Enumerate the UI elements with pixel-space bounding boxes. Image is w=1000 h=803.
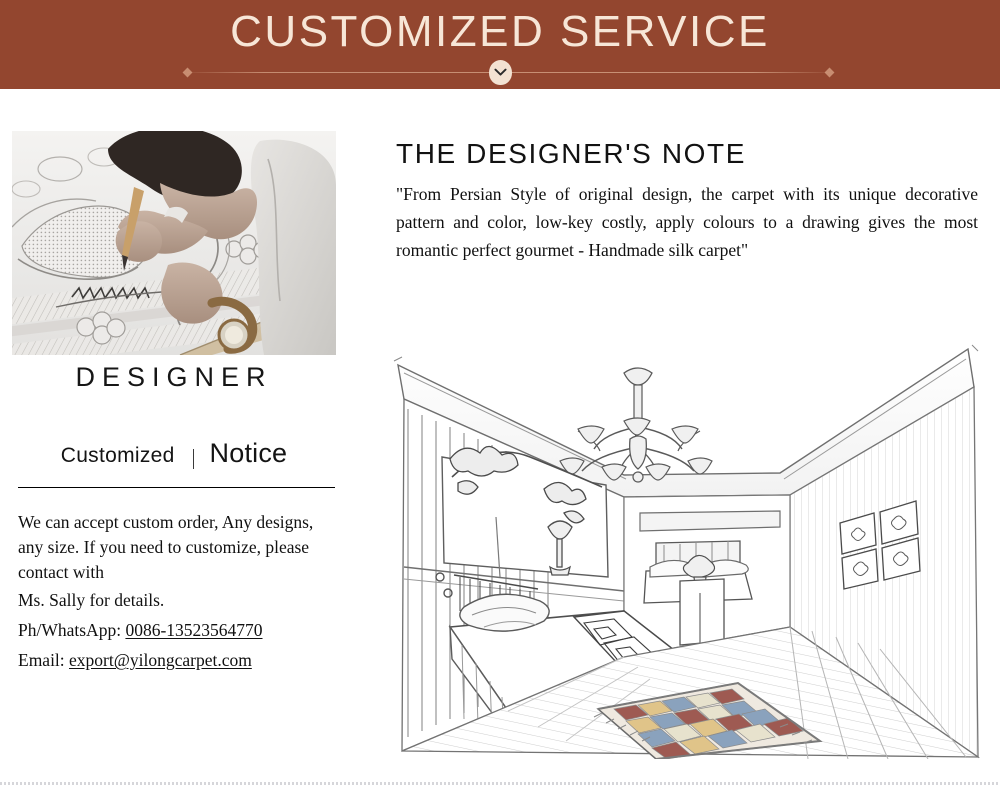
header-divider-dot-left (183, 68, 193, 78)
chevron-down-badge[interactable] (489, 60, 512, 85)
page-title: CUSTOMIZED SERVICE (0, 6, 1000, 58)
bottom-dotted-divider (0, 782, 1000, 785)
header-divider-dot-right (825, 68, 835, 78)
designer-heading: DESIGNER (12, 362, 336, 393)
contact-block: We can accept custom order, Any designs,… (18, 510, 338, 675)
phone-line: Ph/WhatsApp: 0086-13523564770 (18, 615, 338, 645)
phone-label: Ph/WhatsApp: (18, 620, 121, 640)
designer-photo (12, 131, 336, 355)
room-sketch-image (388, 327, 980, 759)
vertical-divider (193, 449, 194, 469)
designers-note-body: "From Persian Style of original design, … (396, 180, 978, 264)
phone-value[interactable]: 0086-13523564770 (125, 620, 262, 640)
email-line: Email: export@yilongcarpet.com (18, 645, 338, 675)
section-divider-rule (18, 487, 335, 488)
customized-notice-row: Customized Notice (12, 438, 336, 469)
email-value[interactable]: export@yilongcarpet.com (69, 650, 252, 670)
page-header-banner: CUSTOMIZED SERVICE (0, 0, 1000, 89)
notice-label: Notice (210, 438, 288, 468)
chevron-down-icon (494, 68, 507, 77)
designers-note-heading: THE DESIGNER'S NOTE (396, 138, 746, 170)
email-label: Email: (18, 650, 65, 670)
custom-order-text: We can accept custom order, Any designs,… (18, 510, 338, 585)
contact-person-text: Ms. Sally for details. (18, 585, 338, 615)
customized-label: Customized (61, 444, 175, 467)
